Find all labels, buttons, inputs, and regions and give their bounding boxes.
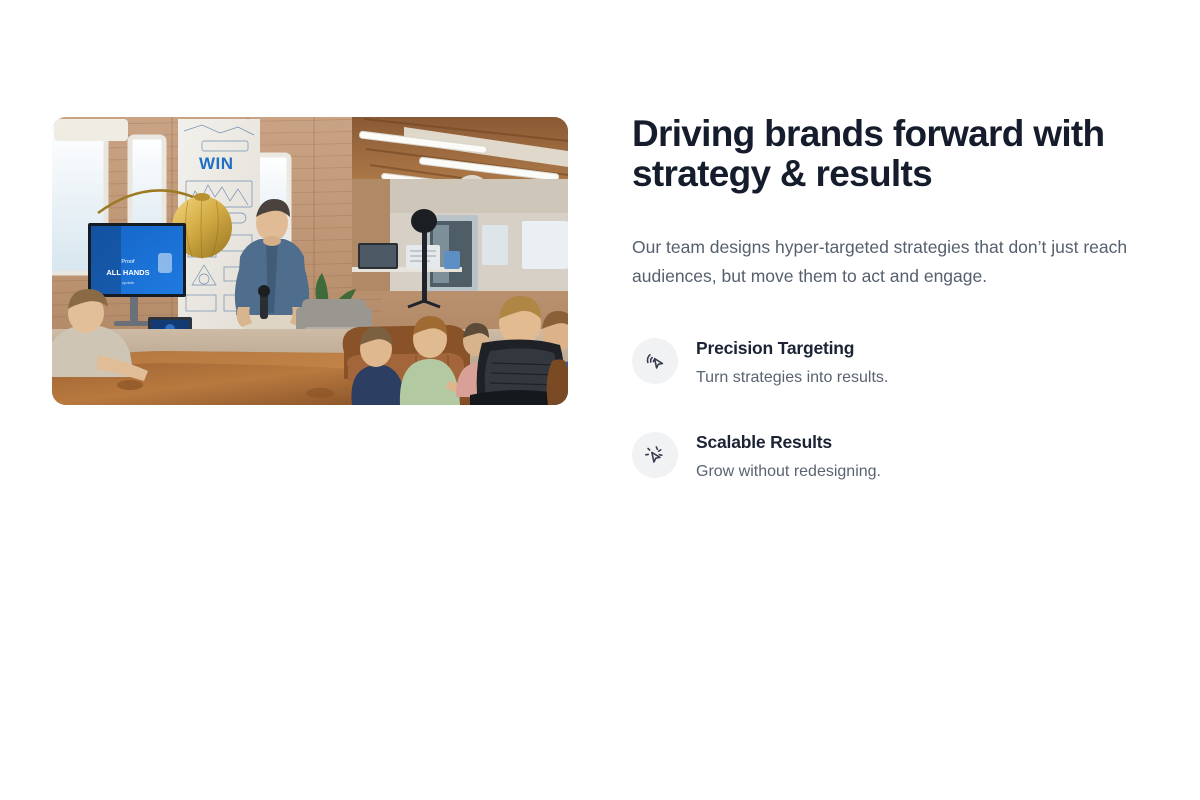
hero-copy-column: Driving brands forward with strategy & r… [632,114,1152,482]
feature-text: Precision Targeting Turn strategies into… [696,336,888,388]
cursor-sparkle-icon [644,444,666,466]
feature-title: Scalable Results [696,431,881,453]
feature-description: Turn strategies into results. [696,367,888,388]
svg-text:WIN: WIN [199,154,234,173]
feature-item-precision-targeting: Precision Targeting Turn strategies into… [632,336,1152,388]
svg-text:update: update [122,280,135,285]
hero-subcopy: Our team designs hyper-targeted strategi… [632,233,1148,291]
page-title: Driving brands forward with strategy & r… [632,114,1112,194]
feature-list: Precision Targeting Turn strategies into… [632,336,1152,482]
cursor-target-icon [644,350,666,372]
feature-icon-badge [632,338,678,384]
feature-icon-badge [632,432,678,478]
feature-item-scalable-results: Scalable Results Grow without redesignin… [632,430,1152,482]
feature-text: Scalable Results Grow without redesignin… [696,430,881,482]
hero-media-column: WIN [52,117,568,405]
hero-section: WIN [0,0,1200,800]
feature-title: Precision Targeting [696,337,888,359]
svg-text:ALL HANDS: ALL HANDS [106,268,149,277]
office-all-hands-meeting-photo: WIN [52,117,568,405]
feature-description: Grow without redesigning. [696,461,881,482]
svg-text:Proof: Proof [121,259,135,265]
